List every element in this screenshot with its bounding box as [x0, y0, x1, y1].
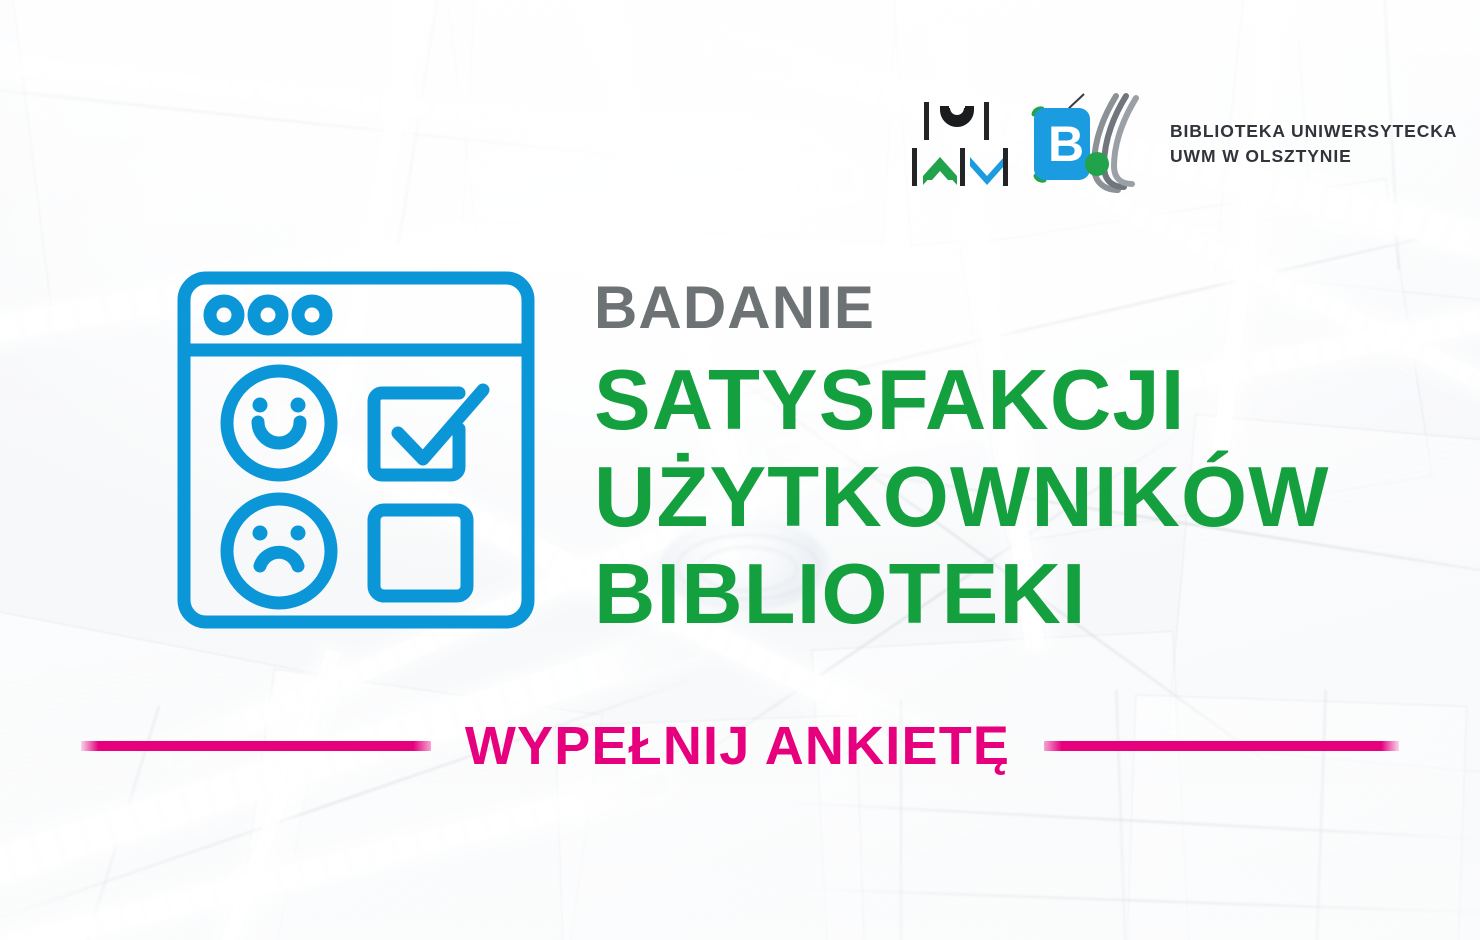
library-logo[interactable]: B BIBLIOTEKA UNIWERSYTECKA UWM W OLSZTYN…: [912, 92, 1457, 196]
headline-line-3: BIBLIOTEKI: [594, 552, 1384, 637]
uwm-chevrons-mark: [912, 98, 1008, 190]
cta-label[interactable]: WYPEŁNIJ ANKIETĘ: [465, 718, 1010, 775]
b-bookmark-mark: B: [1024, 92, 1142, 196]
institution-line-2: UWM W OLSZTYNIE: [1170, 144, 1457, 169]
svg-text:B: B: [1048, 116, 1084, 172]
survey-window-icon: [176, 270, 536, 630]
poster-banner: B BIBLIOTEKA UNIWERSYTECKA UWM W OLSZTYN…: [0, 0, 1480, 940]
cta-row: WYPEŁNIJ ANKIETĘ: [0, 718, 1480, 775]
institution-line-1: BIBLIOTEKA UNIWERSYTECKA: [1170, 119, 1457, 144]
cta-rule-right: [1044, 741, 1399, 751]
cta-rule-left: [81, 741, 431, 751]
headline-block: BADANIE SATYSFAKCJI UŻYTKOWNIKÓW BIBLIOT…: [594, 278, 1384, 649]
headline-line-2: UŻYTKOWNIKÓW: [594, 455, 1384, 540]
headline-kicker: BADANIE: [594, 278, 1384, 338]
headline-line-1: SATYSFAKCJI: [594, 358, 1384, 443]
institution-name: BIBLIOTEKA UNIWERSYTECKA UWM W OLSZTYNIE: [1170, 119, 1457, 169]
